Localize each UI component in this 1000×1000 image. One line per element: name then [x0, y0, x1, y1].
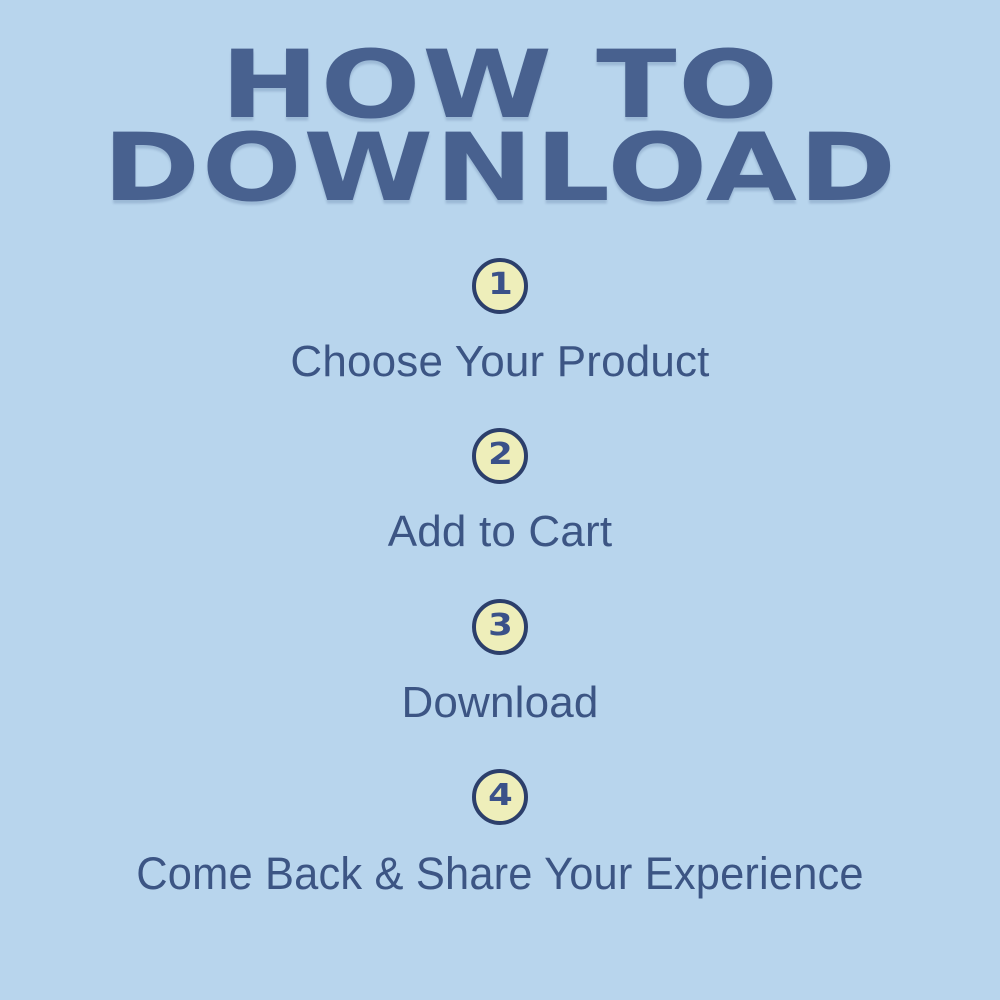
how-to-download-poster: HOW TO DOWNLOAD 1 Choose Your Product 2 … — [0, 0, 1000, 1000]
title-line-download: DOWNLOAD — [0, 127, 1000, 209]
step-label-1: Choose Your Product — [0, 338, 1000, 386]
step-label-4: Come Back & Share Your Experience — [18, 849, 983, 899]
step-item-3: 3 Download — [0, 599, 1000, 727]
step-badge-2: 2 — [472, 428, 528, 484]
step-label-2: Add to Cart — [0, 508, 1000, 556]
step-badge-3: 3 — [472, 599, 528, 655]
step-item-1: 1 Choose Your Product — [0, 258, 1000, 386]
step-number-4: 4 — [488, 781, 513, 811]
steps-list: 1 Choose Your Product 2 Add to Cart 3 Do… — [0, 258, 1000, 899]
step-item-2: 2 Add to Cart — [0, 428, 1000, 556]
step-item-4: 4 Come Back & Share Your Experience — [0, 769, 1000, 899]
step-number-2: 2 — [488, 440, 513, 470]
step-label-3: Download — [0, 679, 1000, 727]
page-title: HOW TO DOWNLOAD — [0, 44, 1000, 205]
step-badge-1: 1 — [472, 258, 528, 314]
step-number-1: 1 — [488, 270, 513, 300]
step-number-3: 3 — [488, 611, 513, 641]
step-badge-4: 4 — [472, 769, 528, 825]
